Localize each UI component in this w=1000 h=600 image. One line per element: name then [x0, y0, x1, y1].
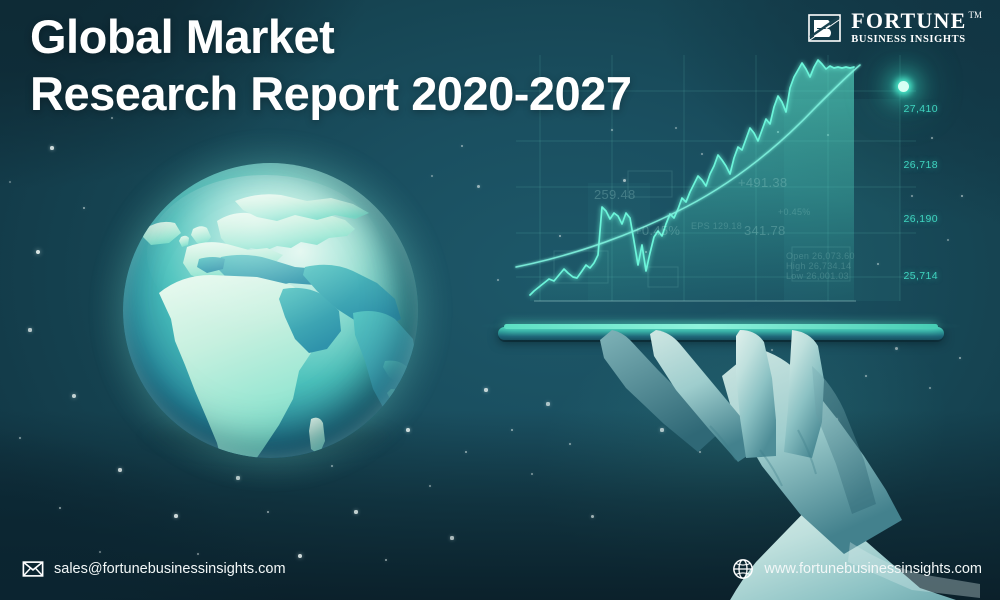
y-axis-label-0: 27,410 [903, 103, 938, 115]
logo-subtitle: BUSINESS INSIGHTS [851, 35, 982, 46]
particle-dot [497, 279, 500, 282]
particle-dot [59, 507, 62, 510]
chart-annotation-6: Open 26,073.60 [786, 251, 855, 261]
fortune-b-monogram-icon [808, 13, 842, 43]
particle-dot [429, 485, 431, 487]
particle-dot [50, 146, 54, 150]
footer-email[interactable]: sales@fortunebusinessinsights.com [22, 558, 286, 580]
particle-dot [385, 559, 388, 562]
particle-dot [36, 250, 40, 254]
chart-annotation-0: 259.48 [594, 187, 636, 202]
chart-annotation-1: +0.45% [634, 223, 680, 238]
particle-dot [511, 429, 514, 432]
globe-sphere [123, 163, 418, 458]
chart-annotation-2: +491.38 [738, 175, 787, 190]
chart-annotation-4: EPS 129.18 [691, 221, 742, 231]
particle-dot [354, 510, 357, 513]
envelope-icon [22, 558, 44, 580]
y-axis-label-1: 26,718 [903, 159, 938, 171]
particle-dot [298, 554, 302, 558]
banner-canvas: 259.48 +0.45% +491.38 341.78 EPS 129.18 … [0, 0, 1000, 600]
globe-continents-icon [123, 163, 418, 458]
particle-dot [72, 394, 76, 398]
particle-dot [99, 551, 101, 553]
particle-dot [546, 402, 549, 405]
particle-dot [465, 451, 468, 454]
page-title: Global Market Research Report 2020-2027 [30, 8, 830, 122]
particle-dot [461, 145, 464, 148]
logo-name: FORTUNE [851, 10, 966, 32]
particle-dot [174, 514, 178, 518]
tablet-screen-edge [504, 324, 938, 329]
particle-dot [267, 511, 270, 514]
chart-annotation-5: +0.45% [778, 207, 811, 217]
particle-dot [431, 175, 433, 177]
footer-website[interactable]: www.fortunebusinessinsights.com [732, 558, 982, 580]
particle-dot [83, 207, 86, 210]
particle-dot [450, 536, 453, 539]
particle-dot [19, 437, 22, 440]
footer-website-text: www.fortunebusinessinsights.com [764, 561, 982, 577]
globe-illustration [123, 163, 418, 458]
y-axis-label-3: 25,714 [903, 270, 938, 282]
chart-y-axis: 27,410 26,718 26,190 25,714 [882, 55, 938, 333]
chart-annotation-8: Low 26,001.03 [786, 271, 849, 281]
particle-dot [28, 328, 31, 331]
chart-annotation-3: 341.78 [744, 223, 786, 238]
globe-icon [732, 558, 754, 580]
brand-logo[interactable]: FORTUNE TM BUSINESS INSIGHTS [808, 10, 982, 46]
logo-title-row: FORTUNE TM [851, 10, 982, 32]
particle-dot [197, 553, 200, 556]
footer-email-text: sales@fortunebusinessinsights.com [54, 561, 286, 577]
particle-dot [531, 473, 533, 475]
logo-trademark: TM [969, 11, 983, 20]
logo-text-block: FORTUNE TM BUSINESS INSIGHTS [851, 10, 982, 46]
particle-dot [484, 388, 487, 391]
particle-dot [477, 185, 480, 188]
y-axis-label-2: 26,190 [903, 213, 938, 225]
particle-dot [9, 181, 11, 183]
particle-dot [961, 195, 964, 198]
chart-annotation-7: High 26,734.14 [786, 261, 851, 271]
particle-dot [118, 468, 121, 471]
particle-dot [947, 239, 949, 241]
